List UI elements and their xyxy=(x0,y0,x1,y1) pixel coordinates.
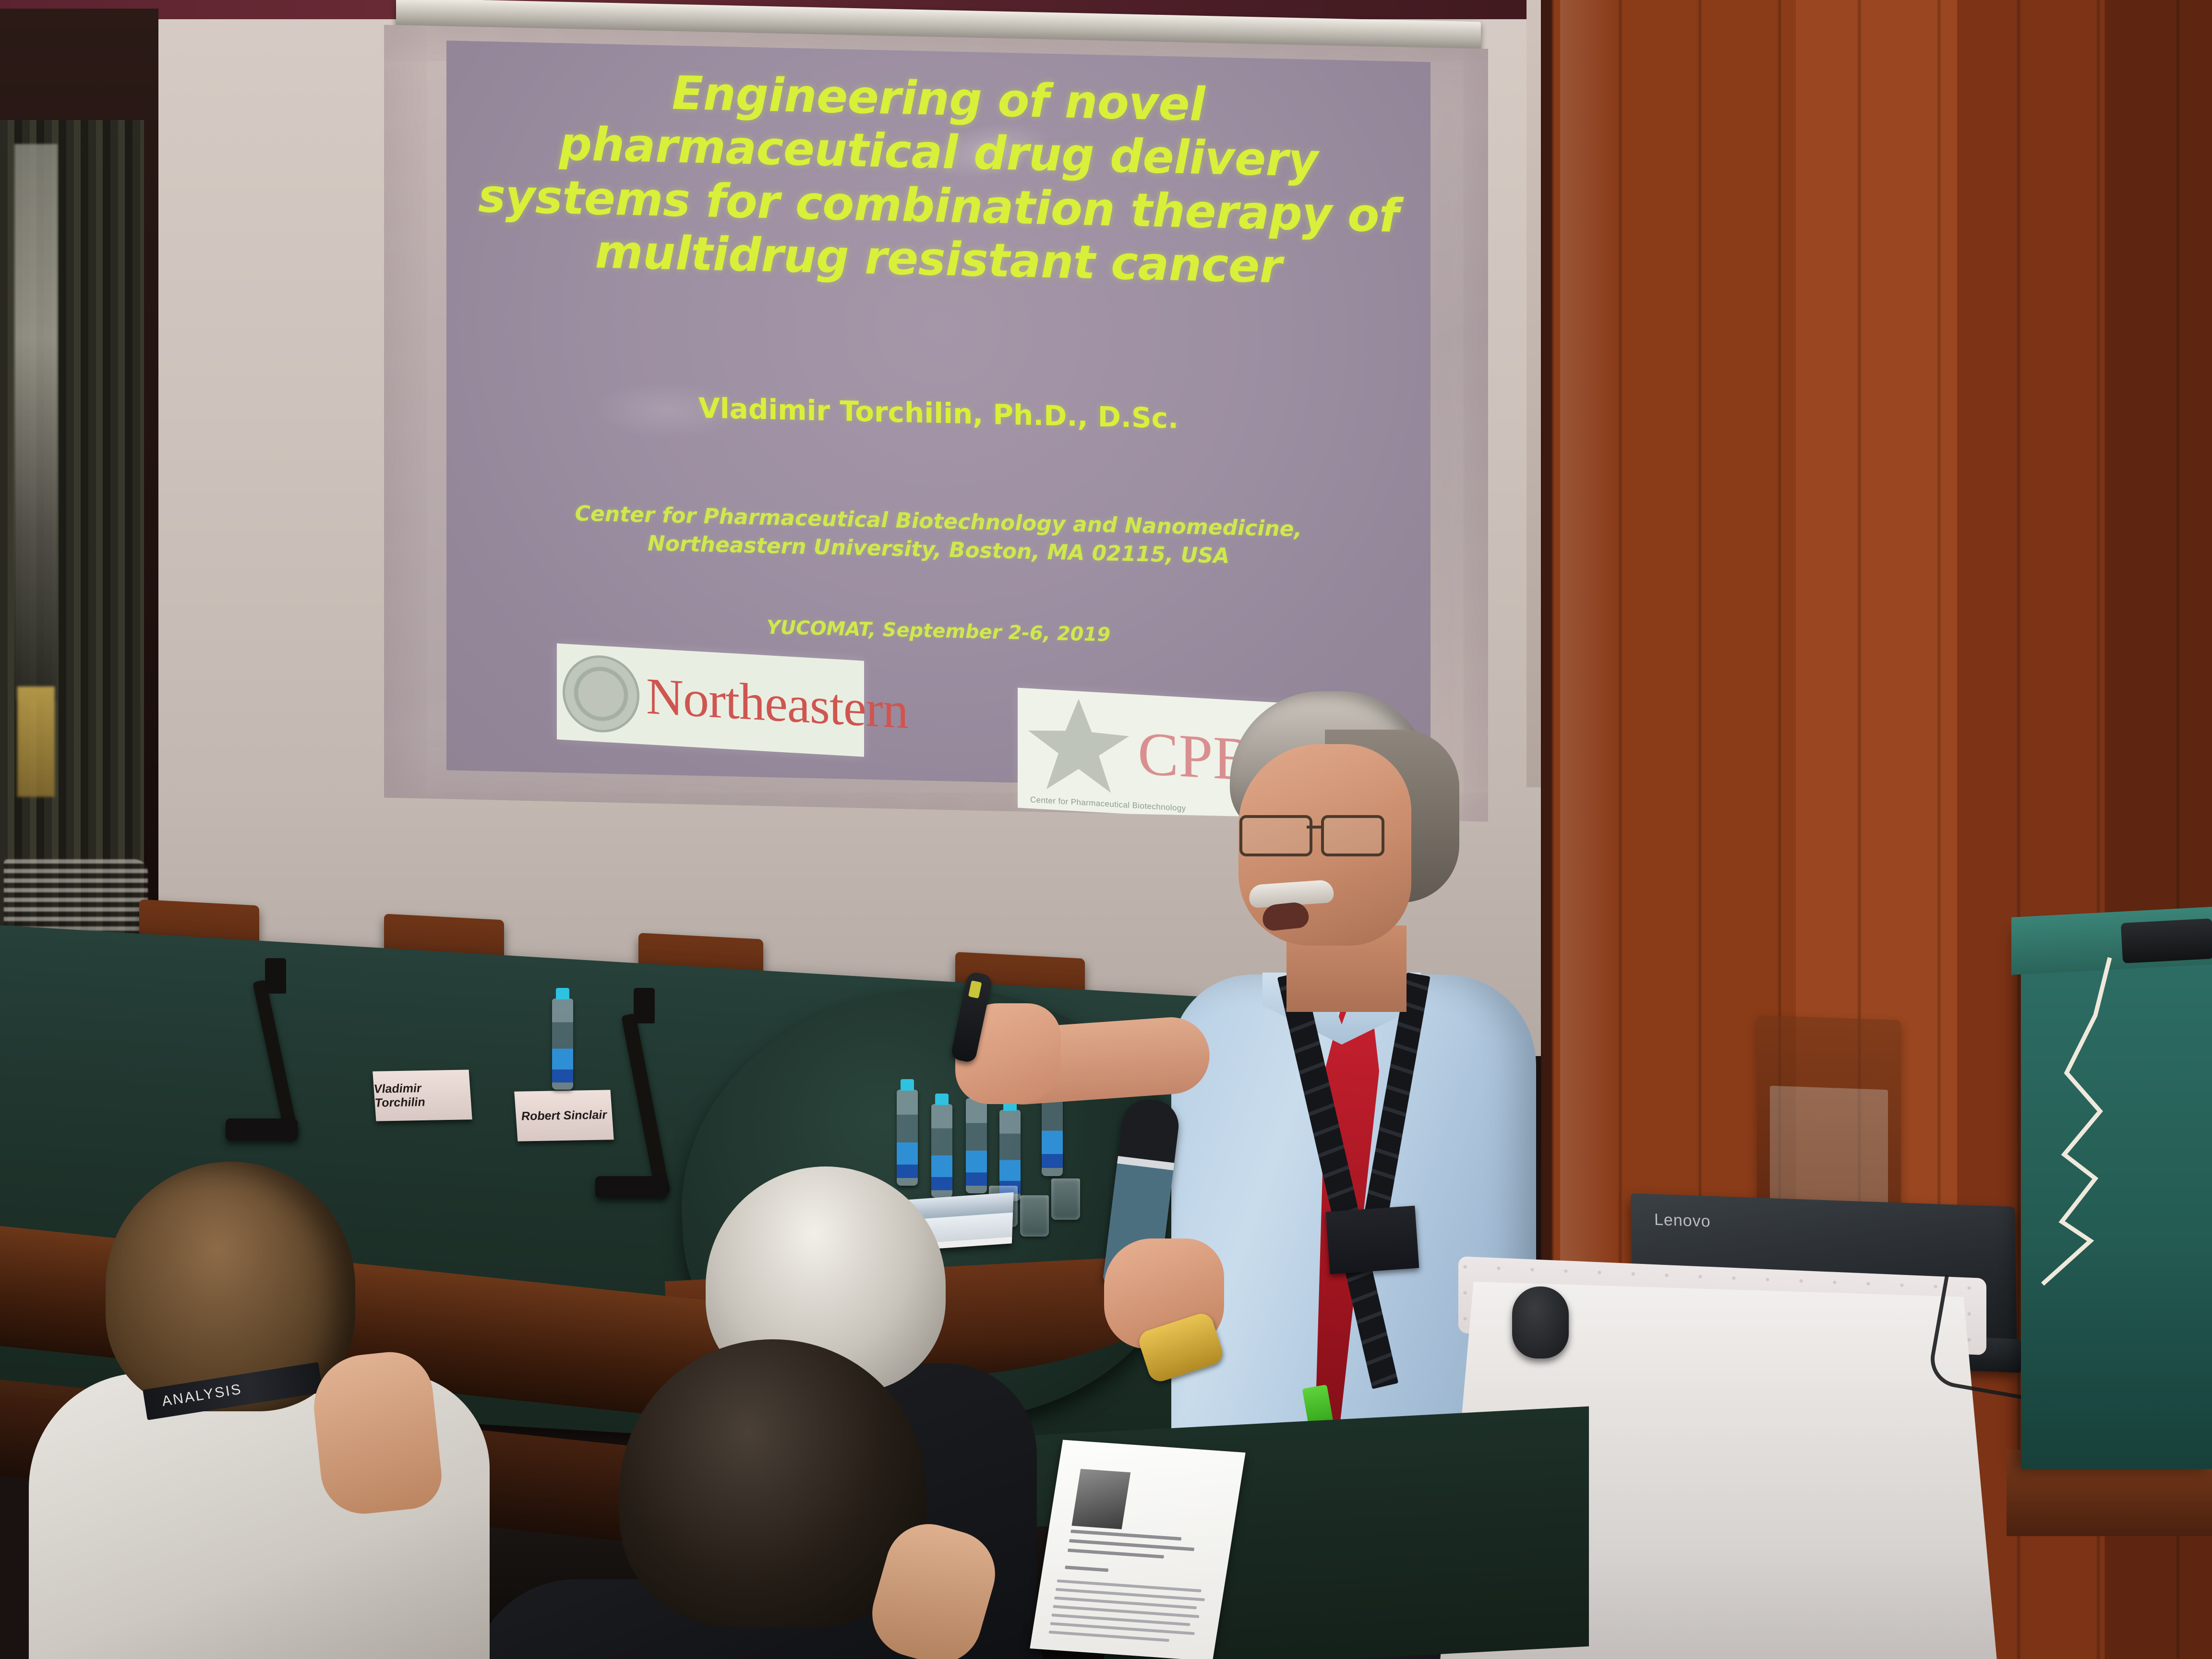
name-card-torchilin: Vladimir Torchilin xyxy=(373,1070,472,1121)
attendee-grey-shirt-hand xyxy=(309,1348,445,1518)
window-gap xyxy=(14,144,58,701)
water-bottle-1[interactable] xyxy=(552,998,573,1090)
northeastern-seal-icon xyxy=(563,653,639,734)
microphone-head-1 xyxy=(265,958,286,994)
window-warm-light xyxy=(17,686,55,797)
name-card-torchilin-label: Vladimir Torchilin xyxy=(373,1081,471,1110)
microphone-base-2[interactable] xyxy=(595,1176,667,1198)
speaker-biography-handout[interactable] xyxy=(1030,1440,1245,1659)
slide-title: Engineering of novel pharmaceutical drug… xyxy=(446,61,1431,297)
bottle-cap-icon xyxy=(556,988,569,999)
name-card-sinclair: Robert Sinclair xyxy=(514,1090,613,1141)
drinking-glass-3[interactable] xyxy=(1051,1178,1080,1220)
drinking-glass-2[interactable] xyxy=(1020,1195,1049,1237)
laptop-brand-label: Lenovo xyxy=(1654,1211,1711,1231)
starfish-icon xyxy=(1028,696,1129,798)
lectern-cable xyxy=(2038,953,2158,1308)
bottle-cap-icon xyxy=(935,1094,949,1105)
speaker-name-badge xyxy=(1326,1206,1419,1274)
wireless-mouse[interactable] xyxy=(1512,1286,1569,1358)
name-card-sinclair-label: Robert Sinclair xyxy=(521,1108,607,1123)
presentation-slide: Engineering of novel pharmaceutical drug… xyxy=(446,40,1431,792)
microphone-base-1[interactable] xyxy=(226,1118,298,1141)
bottle-cap-icon xyxy=(901,1079,914,1091)
microphone-head-2 xyxy=(634,988,655,1023)
eyeglasses-icon xyxy=(1239,815,1398,853)
conference-photo-scene: Engineering of novel pharmaceutical drug… xyxy=(0,0,2212,1659)
water-bottle-2[interactable] xyxy=(897,1090,918,1186)
handout-portrait-photo xyxy=(1071,1469,1130,1529)
water-bottle-3[interactable] xyxy=(931,1104,952,1198)
northeastern-logo: Northeastern xyxy=(557,643,864,757)
northeastern-wordmark: Northeastern xyxy=(646,671,908,737)
water-bottle-4[interactable] xyxy=(966,1098,987,1193)
slide-affiliation: Center for Pharmaceutical Biotechnology … xyxy=(446,496,1431,575)
